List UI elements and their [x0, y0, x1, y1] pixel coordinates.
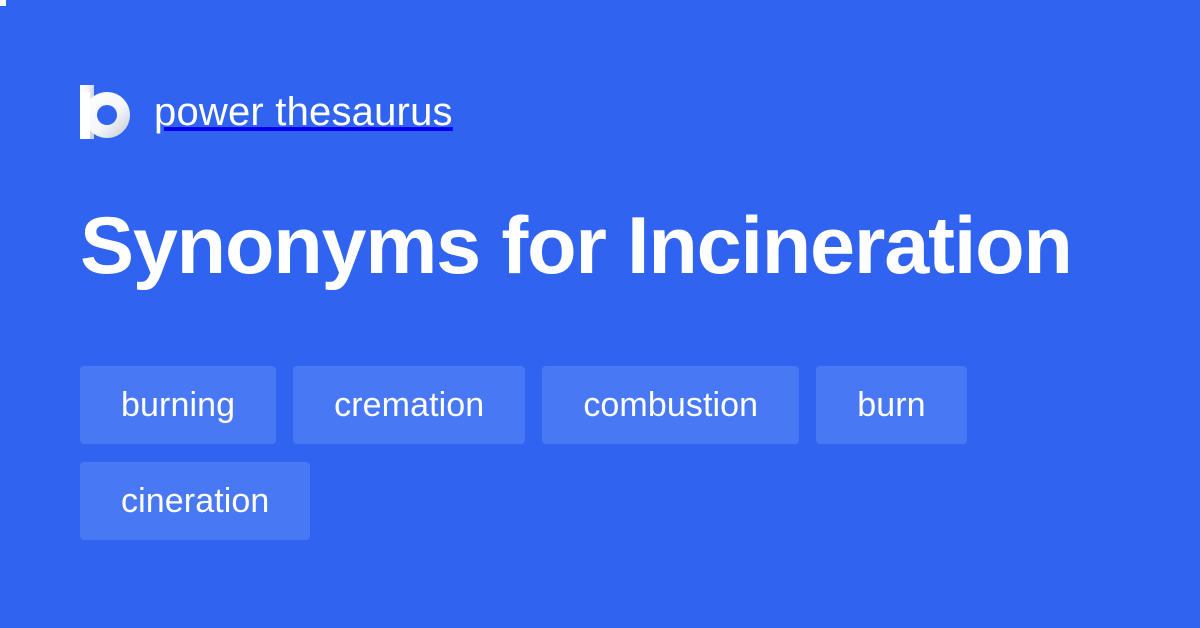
page-root: power thesaurus Synonyms for Incineratio…	[0, 0, 1200, 628]
brand-name: power thesaurus	[154, 92, 453, 132]
synonym-chip[interactable]: combustion	[542, 366, 799, 444]
synonym-chip-list: burning cremation combustion burn cinera…	[80, 366, 1120, 540]
synonym-chip[interactable]: burning	[80, 366, 276, 444]
page-title: Synonyms for Incineration	[80, 198, 1072, 294]
corner-notch	[0, 0, 6, 6]
power-thesaurus-b-logo-icon	[80, 85, 132, 139]
brand-logo-link[interactable]: power thesaurus	[80, 82, 453, 142]
synonym-chip[interactable]: cremation	[293, 366, 525, 444]
synonym-chip[interactable]: burn	[816, 366, 966, 444]
synonym-chip[interactable]: cineration	[80, 462, 310, 540]
